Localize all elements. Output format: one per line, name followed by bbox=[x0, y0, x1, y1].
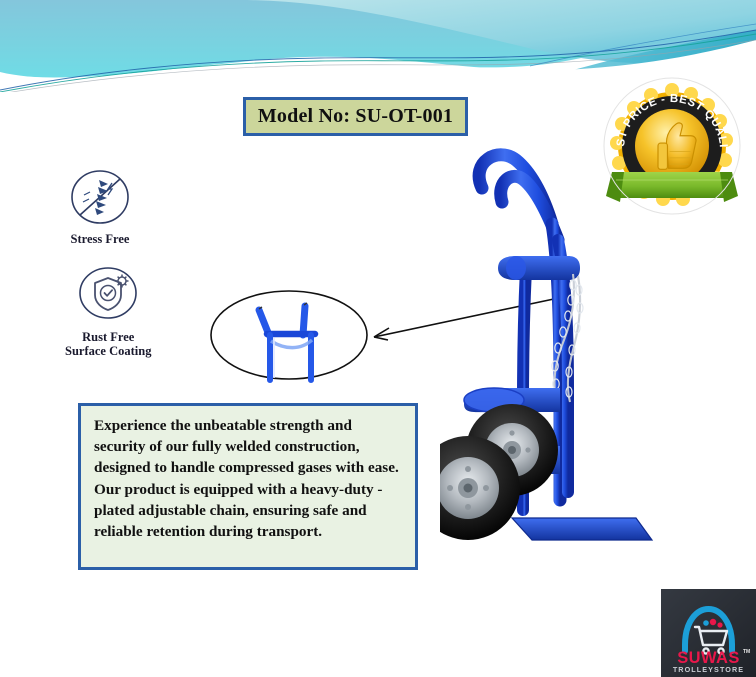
feature-label-line1: Rust Free bbox=[65, 330, 151, 344]
feature-label-line2: Surface Coating bbox=[65, 344, 151, 358]
feature-label-line1: Stress Free bbox=[71, 232, 130, 246]
model-number-box: Model No: SU-OT-001 bbox=[243, 97, 468, 136]
weld-joint-magnifier bbox=[207, 288, 372, 383]
model-number-label: Model No: SU-OT-001 bbox=[258, 105, 453, 128]
shield-check-rust-free-icon bbox=[76, 266, 140, 326]
feature-label: Rust Free Surface Coating bbox=[65, 330, 151, 358]
description-box: Experience the unbeatable strength and s… bbox=[78, 403, 418, 570]
feature-label: Stress Free bbox=[71, 232, 130, 246]
no-stress-icon bbox=[68, 168, 132, 228]
description-text: Experience the unbeatable strength and s… bbox=[94, 415, 403, 542]
best-price-best-quality-badge: BEST PRICE - BEST QUALITY bbox=[602, 76, 742, 216]
brand-logo: SUWAS TM TROLLEYSTORE bbox=[661, 589, 756, 677]
feature-rust-free: Rust Free Surface Coating bbox=[65, 266, 151, 358]
feature-stress-free: Stress Free bbox=[68, 168, 132, 246]
poster-canvas: Model No: SU-OT-001 Stress Free bbox=[0, 0, 756, 677]
suwas-trolleystore-logo: SUWAS TM TROLLEYSTORE bbox=[661, 589, 756, 677]
logo-trademark: TM bbox=[743, 649, 750, 655]
logo-tagline: TROLLEYSTORE bbox=[673, 665, 744, 674]
